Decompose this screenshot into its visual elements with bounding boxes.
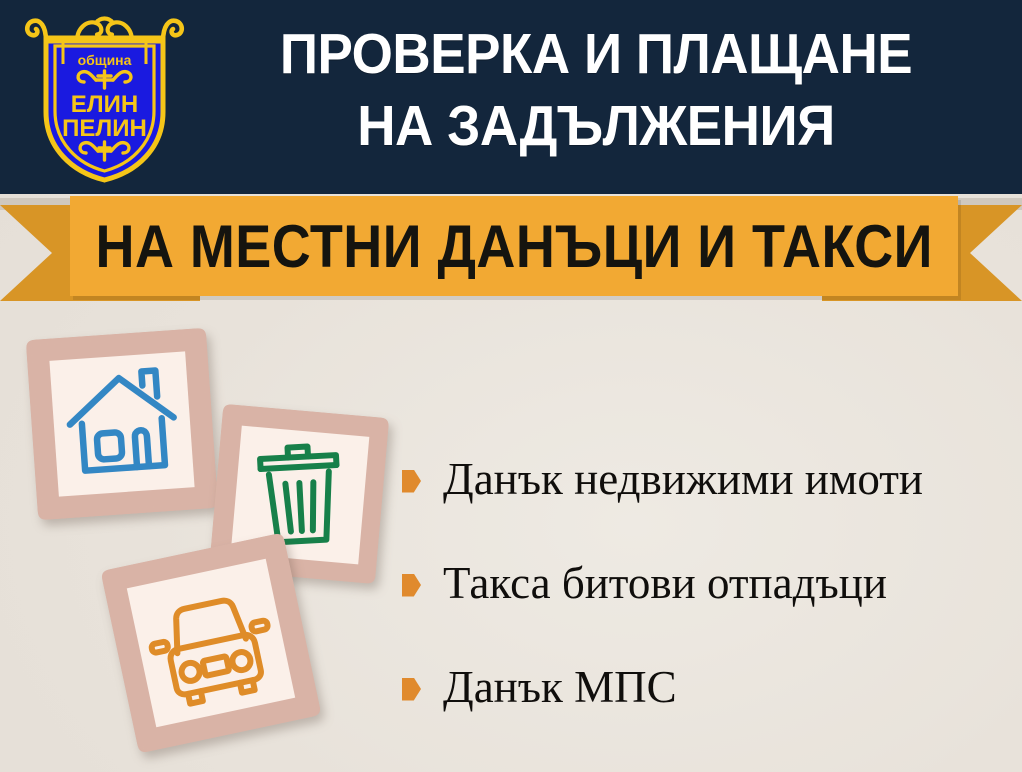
list-item-label: Данък МПС: [443, 664, 677, 711]
stamp-vehicle: [96, 528, 326, 763]
emblem-text-elin: ЕЛИН: [71, 91, 138, 118]
list-item[interactable]: Данък МПС: [402, 636, 1012, 740]
arrow-bullet-icon: [402, 470, 421, 493]
page-title-line-2: НА ЗАДЪЛЖЕНИЯ: [215, 90, 978, 162]
ribbon-banner: НА МЕСТНИ ДАНЪЦИ И ТАКСИ: [0, 186, 1022, 311]
list-item[interactable]: Данък недвижими имоти: [402, 428, 1012, 532]
coat-of-arms-emblem: община ЕЛИН ПЕЛИН: [22, 8, 187, 188]
stamp-house-graphic: [14, 316, 230, 532]
list-item[interactable]: Такса битови отпадъци: [402, 532, 1012, 636]
ribbon-label: НА МЕСТНИ ДАНЪЦИ И ТАКСИ: [95, 212, 932, 281]
stamp-house: [14, 316, 230, 537]
tax-type-list: Данък недвижими имоти Такса битови отпад…: [402, 428, 1012, 740]
list-item-label: Данък недвижими имоти: [443, 456, 923, 503]
emblem-text-pelin: ПЕЛИН: [62, 115, 147, 142]
list-item-label: Такса битови отпадъци: [443, 560, 887, 607]
page-title: ПРОВЕРКА И ПЛАЩАНЕ НА ЗАДЪЛЖЕНИЯ: [215, 18, 978, 162]
coat-of-arms-icon: община ЕЛИН ПЕЛИН: [22, 8, 187, 188]
emblem-text-obshtina: община: [78, 52, 132, 68]
ribbon-band: НА МЕСТНИ ДАНЪЦИ И ТАКСИ: [70, 196, 958, 296]
arrow-bullet-icon: [402, 678, 421, 701]
arrow-bullet-icon: [402, 574, 421, 597]
page-title-line-1: ПРОВЕРКА И ПЛАЩАНЕ: [215, 18, 978, 90]
poster-root: ПРОВЕРКА И ПЛАЩАНЕ НА ЗАДЪЛЖЕНИЯ община: [0, 0, 1022, 772]
stamp-vehicle-graphic: [96, 528, 326, 758]
